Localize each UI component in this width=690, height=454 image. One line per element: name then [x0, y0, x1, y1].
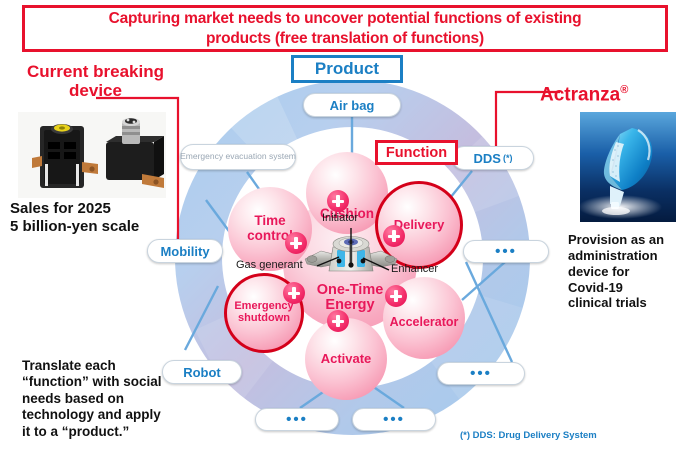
right-heading-label: Actranza	[540, 84, 620, 105]
left-sales-note: Sales for 2025 5 billion-yen scale	[10, 200, 139, 237]
title-text: Capturing market needs to uncover potent…	[109, 9, 582, 49]
title-line-1: Capturing market needs to uncover potent…	[109, 10, 582, 27]
actranza-device-photo	[580, 112, 676, 222]
device-label-initiator: Initiator	[322, 212, 358, 224]
slide-canvas: Capturing market needs to uncover potent…	[0, 0, 690, 454]
left-heading: Current breaking device	[8, 62, 183, 101]
left-heading-line-2: device	[69, 81, 122, 100]
title-banner: Capturing market needs to uncover potent…	[22, 5, 668, 52]
right-note-line-5: clinical trials	[568, 295, 647, 310]
device-label-enhancer: Enhancer	[391, 263, 438, 275]
dds-footnote: (*) DDS: Drug Delivery System	[460, 430, 597, 441]
right-note: Provision as an administration device fo…	[568, 232, 664, 311]
left-translate-line-4: technology and apply	[22, 407, 161, 422]
device-label-gas-generant: Gas generant	[236, 259, 303, 271]
right-heading: Actranza®	[540, 84, 628, 106]
right-note-line-3: device for	[568, 264, 629, 279]
left-translate-line-5: it to a “product.”	[22, 424, 129, 439]
left-heading-line-1: Current breaking	[27, 62, 164, 81]
function-box: Function	[375, 140, 458, 165]
left-sales-line-2: 5 billion-yen scale	[10, 218, 139, 235]
function-box-label: Function	[386, 145, 447, 161]
registered-trademark-icon: ®	[620, 84, 628, 96]
right-note-line-4: Covid-19	[568, 280, 623, 295]
left-translate-line-3: needs based on	[22, 391, 124, 406]
current-breaking-device-photo	[18, 112, 166, 198]
left-translate-line-1: Translate each	[22, 358, 116, 373]
right-note-line-1: Provision as an	[568, 232, 664, 247]
left-sales-line-1: Sales for 2025	[10, 200, 111, 217]
title-line-2: products (free translation of functions)	[206, 30, 484, 47]
product-box-label: Product	[315, 59, 379, 79]
right-note-line-2: administration	[568, 248, 658, 263]
left-translate-line-2: “function” with social	[22, 374, 162, 389]
left-translate-note: Translate each “function” with social ne…	[22, 358, 162, 440]
product-box: Product	[291, 55, 403, 83]
